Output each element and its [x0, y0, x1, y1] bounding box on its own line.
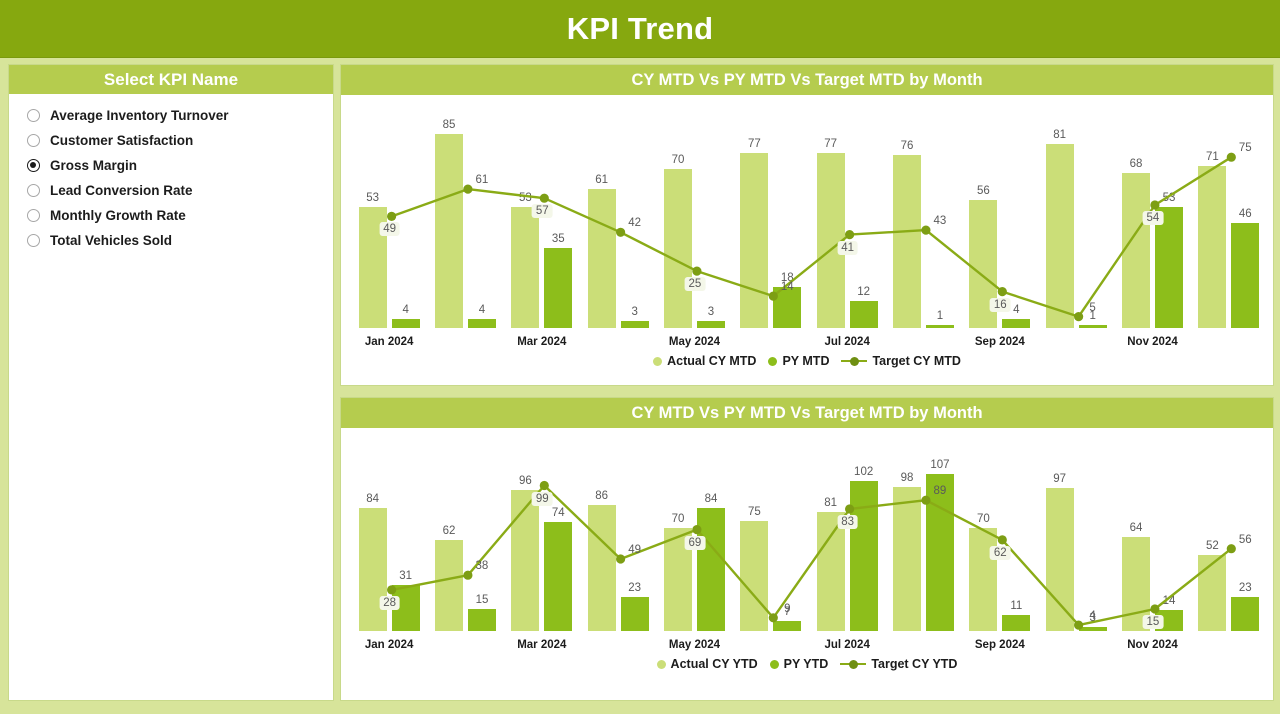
- kpi-radio-label: Total Vehicles Sold: [50, 233, 172, 248]
- bar-py[interactable]: [621, 321, 649, 328]
- bar-py[interactable]: [544, 522, 572, 631]
- x-axis-tick-label: Jul 2024: [824, 639, 869, 651]
- kpi-radio-list: Average Inventory TurnoverCustomer Satis…: [9, 94, 333, 253]
- x-axis-tick-label: Mar 2024: [517, 639, 566, 651]
- kpi-radio-item[interactable]: Gross Margin: [27, 153, 333, 178]
- bar-actual[interactable]: [1046, 144, 1074, 329]
- bar-actual[interactable]: [664, 169, 692, 328]
- kpi-radio-item[interactable]: Lead Conversion Rate: [27, 178, 333, 203]
- x-axis-tick-label: Mar 2024: [517, 336, 566, 348]
- bar-py[interactable]: [1155, 207, 1183, 328]
- bar-py[interactable]: [1079, 627, 1107, 631]
- page-title-bar: KPI Trend: [0, 0, 1280, 58]
- bar-actual[interactable]: [740, 153, 768, 328]
- kpi-radio-label: Lead Conversion Rate: [50, 183, 193, 198]
- target-value-label: 56: [1237, 533, 1254, 547]
- bar-actual-value-label: 96: [519, 475, 532, 487]
- bar-actual[interactable]: [1122, 173, 1150, 328]
- bar-py-value-label: 84: [705, 493, 718, 505]
- legend-line-icon: [841, 357, 867, 366]
- radio-button-icon[interactable]: [27, 134, 40, 147]
- x-axis-tick-label: Jul 2024: [824, 336, 869, 348]
- legend-swatch-icon: [657, 660, 666, 669]
- legend-label: Actual CY YTD: [671, 657, 758, 671]
- bar-actual[interactable]: [588, 189, 616, 328]
- bar-actual-value-label: 81: [824, 497, 837, 509]
- kpi-radio-item[interactable]: Customer Satisfaction: [27, 128, 333, 153]
- bar-py[interactable]: [1231, 223, 1259, 328]
- radio-button-icon[interactable]: [27, 184, 40, 197]
- kpi-radio-item[interactable]: Average Inventory Turnover: [27, 103, 333, 128]
- target-value-label: 43: [932, 214, 949, 228]
- target-value-label: 54: [1143, 211, 1164, 225]
- bar-actual-value-label: 62: [443, 525, 456, 537]
- kpi-radio-label: Gross Margin: [50, 158, 137, 173]
- bar-py-value-label: 74: [552, 507, 565, 519]
- legend-target[interactable]: Target CY YTD: [840, 657, 957, 671]
- dashboard-root: KPI Trend Select KPI Name Average Invent…: [0, 0, 1280, 714]
- legend-label: PY MTD: [782, 354, 829, 368]
- chart-panel-ytd-title: CY MTD Vs PY MTD Vs Target MTD by Month: [631, 404, 982, 423]
- bar-py-value-label: 107: [930, 459, 949, 471]
- bar-py[interactable]: [1231, 597, 1259, 631]
- bar-actual-value-label: 77: [824, 138, 837, 150]
- target-value-label: 38: [474, 559, 491, 573]
- bar-actual-value-label: 76: [901, 140, 914, 152]
- bar-actual-value-label: 84: [366, 493, 379, 505]
- legend-label: Actual CY MTD: [667, 354, 756, 368]
- target-value-label: 49: [626, 543, 643, 557]
- bar-py-value-label: 46: [1239, 208, 1252, 220]
- bar-py[interactable]: [468, 609, 496, 631]
- kpi-radio-item[interactable]: Total Vehicles Sold: [27, 228, 333, 253]
- radio-button-icon[interactable]: [27, 234, 40, 247]
- bar-py-value-label: 11: [1010, 600, 1022, 612]
- bars-layer: [341, 95, 1273, 328]
- bar-actual[interactable]: [511, 490, 539, 631]
- bar-actual-value-label: 64: [1130, 522, 1143, 534]
- kpi-radio-label: Monthly Growth Rate: [50, 208, 186, 223]
- bar-actual-value-label: 70: [977, 513, 990, 525]
- chart-panel-mtd-header: CY MTD Vs PY MTD Vs Target MTD by Month: [341, 65, 1273, 95]
- x-axis-tick-label: Sep 2024: [975, 639, 1025, 651]
- kpi-radio-label: Average Inventory Turnover: [50, 108, 229, 123]
- bar-py-value-label: 23: [1239, 582, 1252, 594]
- target-value-label: 16: [990, 298, 1011, 312]
- bar-py-value-label: 4: [479, 304, 485, 316]
- bar-py-value-label: 14: [1163, 595, 1176, 607]
- target-value-label: 99: [532, 492, 553, 506]
- bar-actual-value-label: 81: [1053, 129, 1066, 141]
- bar-actual[interactable]: [435, 134, 463, 328]
- kpi-slicer-title: Select KPI Name: [104, 70, 238, 90]
- bar-py[interactable]: [697, 508, 725, 631]
- bar-actual-value-label: 71: [1206, 151, 1219, 163]
- target-value-label: 69: [685, 536, 706, 550]
- bar-actual[interactable]: [435, 540, 463, 631]
- bar-py-value-label: 53: [1163, 192, 1176, 204]
- legend-label: Target CY MTD: [872, 354, 960, 368]
- bar-actual[interactable]: [817, 512, 845, 631]
- bar-actual-value-label: 53: [519, 192, 532, 204]
- chart-panel-ytd-header: CY MTD Vs PY MTD Vs Target MTD by Month: [341, 398, 1273, 428]
- target-value-label: 75: [1237, 141, 1254, 155]
- chart-ytd-legend: Actual CY YTDPY YTDTarget CY YTD: [341, 653, 1273, 675]
- legend-swatch-icon: [770, 660, 779, 669]
- bar-actual[interactable]: [1198, 166, 1226, 328]
- kpi-radio-label: Customer Satisfaction: [50, 133, 193, 148]
- bar-py-value-label: 1: [937, 310, 943, 322]
- bar-py-value-label: 12: [857, 286, 870, 298]
- target-value-label: 5: [1087, 301, 1097, 315]
- x-axis-tick-label: May 2024: [669, 336, 720, 348]
- bar-py-value-label: 35: [552, 233, 565, 245]
- target-value-label: 61: [474, 173, 491, 187]
- bar-actual-value-label: 97: [1053, 473, 1066, 485]
- target-value-label: 14: [779, 280, 796, 294]
- bar-py-value-label: 23: [628, 582, 641, 594]
- bar-py-value-label: 15: [476, 594, 489, 606]
- chart-mtd-plot: 5348545335613703771877127615648116853714…: [341, 95, 1273, 350]
- target-value-label: 42: [626, 216, 643, 230]
- bar-py-value-label: 4: [402, 304, 408, 316]
- chart-mtd-legend: Actual CY MTDPY MTDTarget CY MTD: [341, 350, 1273, 372]
- bar-actual[interactable]: [969, 528, 997, 631]
- target-value-label: 25: [685, 277, 706, 291]
- bar-py[interactable]: [850, 481, 878, 631]
- radio-button-icon[interactable]: [27, 209, 40, 222]
- legend-actual[interactable]: Actual CY MTD: [653, 354, 756, 368]
- target-value-label: 28: [379, 596, 400, 610]
- bar-actual-value-label: 98: [901, 472, 914, 484]
- x-axis-tick-label: Nov 2024: [1127, 336, 1178, 348]
- bar-actual-value-label: 52: [1206, 540, 1219, 552]
- legend-py[interactable]: PY MTD: [768, 354, 829, 368]
- bar-py[interactable]: [926, 325, 954, 328]
- kpi-radio-item[interactable]: Monthly Growth Rate: [27, 203, 333, 228]
- bar-actual-value-label: 61: [595, 174, 608, 186]
- chart-panel-ytd: CY MTD Vs PY MTD Vs Target MTD by Month …: [340, 397, 1274, 701]
- legend-swatch-icon: [768, 357, 777, 366]
- bar-py[interactable]: [621, 597, 649, 631]
- bar-py-value-label: 3: [631, 306, 637, 318]
- bar-py[interactable]: [773, 621, 801, 631]
- target-value-label: 4: [1087, 609, 1097, 623]
- x-axis-tick-label: May 2024: [669, 639, 720, 651]
- legend-line-icon: [840, 660, 866, 669]
- target-value-label: 89: [932, 484, 949, 498]
- x-axis-tick-label: Nov 2024: [1127, 639, 1178, 651]
- bar-actual[interactable]: [740, 521, 768, 631]
- target-value-label: 9: [782, 602, 792, 616]
- bar-actual-value-label: 75: [748, 506, 761, 518]
- bar-py[interactable]: [1079, 325, 1107, 328]
- bar-py[interactable]: [850, 301, 878, 328]
- bar-py-value-label: 4: [1013, 304, 1019, 316]
- bar-actual[interactable]: [893, 155, 921, 328]
- page-title: KPI Trend: [567, 11, 714, 47]
- bar-py[interactable]: [468, 319, 496, 328]
- target-value-label: 83: [837, 515, 858, 529]
- radio-button-icon[interactable]: [27, 159, 40, 172]
- bar-py[interactable]: [697, 321, 725, 328]
- x-axis-tick-label: Sep 2024: [975, 336, 1025, 348]
- legend-swatch-icon: [653, 357, 662, 366]
- bar-actual-value-label: 56: [977, 185, 990, 197]
- chart-panel-mtd-title: CY MTD Vs PY MTD Vs Target MTD by Month: [631, 71, 982, 90]
- x-axis-tick-label: Jan 2024: [365, 336, 414, 348]
- radio-button-icon[interactable]: [27, 109, 40, 122]
- bar-actual[interactable]: [511, 207, 539, 328]
- legend-label: Target CY YTD: [871, 657, 957, 671]
- legend-actual[interactable]: Actual CY YTD: [657, 657, 758, 671]
- target-value-label: 41: [837, 241, 858, 255]
- target-value-label: 62: [990, 546, 1011, 560]
- bar-actual-value-label: 68: [1130, 158, 1143, 170]
- kpi-slicer-panel: Select KPI Name Average Inventory Turnov…: [8, 64, 334, 701]
- bar-actual[interactable]: [359, 508, 387, 631]
- bar-py[interactable]: [1002, 615, 1030, 631]
- chart-ytd-plot: 8431621596748623708475781102981077011973…: [341, 428, 1273, 653]
- bar-py-value-label: 31: [399, 570, 412, 582]
- legend-py[interactable]: PY YTD: [770, 657, 829, 671]
- bar-py-value-label: 102: [854, 466, 873, 478]
- chart-panel-mtd: CY MTD Vs PY MTD Vs Target MTD by Month …: [340, 64, 1274, 386]
- bar-actual[interactable]: [893, 487, 921, 631]
- target-value-label: 57: [532, 204, 553, 218]
- target-value-label: 15: [1143, 615, 1164, 629]
- bar-actual-value-label: 86: [595, 490, 608, 502]
- bar-actual-value-label: 77: [748, 138, 761, 150]
- x-axis-tick-label: Jan 2024: [365, 639, 414, 651]
- bar-py[interactable]: [1002, 319, 1030, 328]
- legend-target[interactable]: Target CY MTD: [841, 354, 960, 368]
- bar-py[interactable]: [544, 248, 572, 328]
- kpi-slicer-header: Select KPI Name: [9, 65, 333, 94]
- bar-actual-value-label: 85: [443, 119, 456, 131]
- bar-actual[interactable]: [588, 505, 616, 631]
- legend-label: PY YTD: [784, 657, 829, 671]
- bar-py-value-label: 3: [708, 306, 714, 318]
- bar-actual-value-label: 53: [366, 192, 379, 204]
- bar-actual[interactable]: [1198, 555, 1226, 631]
- target-value-label: 49: [379, 222, 400, 236]
- bar-py[interactable]: [392, 319, 420, 328]
- bar-actual-value-label: 70: [672, 513, 685, 525]
- bar-actual-value-label: 70: [672, 154, 685, 166]
- bar-actual[interactable]: [1046, 488, 1074, 631]
